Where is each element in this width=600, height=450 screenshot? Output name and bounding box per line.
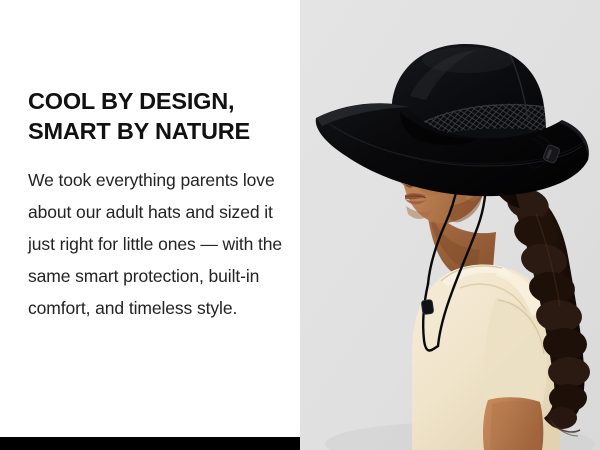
- product-photo-illustration: [300, 0, 600, 450]
- cord-toggle-lower: [421, 299, 434, 314]
- headline: COOL BY DESIGN, SMART BY NATURE: [28, 86, 290, 146]
- product-photo: [300, 0, 600, 450]
- headline-line-1: COOL BY DESIGN,: [28, 86, 290, 116]
- body-copy: We took everything parents love about ou…: [28, 164, 294, 324]
- promo-banner: COOL BY DESIGN, SMART BY NATURE We took …: [0, 0, 600, 450]
- text-panel: COOL BY DESIGN, SMART BY NATURE We took …: [0, 0, 300, 450]
- headline-line-2: SMART BY NATURE: [28, 116, 290, 146]
- bottom-accent-bar: [0, 437, 300, 450]
